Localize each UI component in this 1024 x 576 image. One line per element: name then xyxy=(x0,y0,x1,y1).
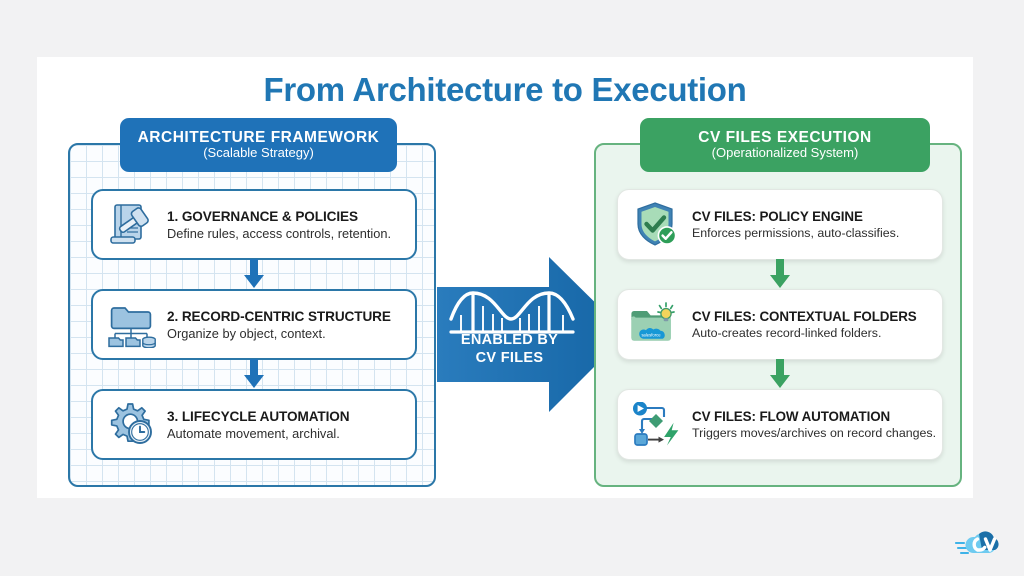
card-description: Automate movement, archival. xyxy=(167,426,349,441)
folder-hierarchy-icon xyxy=(103,299,161,351)
folder-lightbulb-salesforce-icon: salesforce xyxy=(628,299,686,351)
card-text: 2. RECORD-CENTRIC STRUCTURE Organize by … xyxy=(161,309,391,341)
card-description: Enforces permissions, auto-classifies. xyxy=(692,226,899,240)
card-text: CV FILES: POLICY ENGINE Enforces permiss… xyxy=(686,209,899,240)
connector-arrow-down xyxy=(768,359,792,389)
cv-files-execution-subtitle: (Operationalized System) xyxy=(712,146,859,161)
gear-clock-icon xyxy=(103,399,161,451)
cv-cloud-logo xyxy=(955,527,1007,565)
page-title: From Architecture to Execution xyxy=(37,71,973,109)
card-text: CV FILES: FLOW AUTOMATION Triggers moves… xyxy=(686,409,936,440)
card-flow-automation[interactable]: CV FILES: FLOW AUTOMATION Triggers moves… xyxy=(617,389,943,460)
gavel-law-book-icon xyxy=(103,199,161,251)
card-policy-engine[interactable]: CV FILES: POLICY ENGINE Enforces permiss… xyxy=(617,189,943,260)
card-governance-policies[interactable]: 1. GOVERNANCE & POLICIES Define rules, a… xyxy=(91,189,417,260)
architecture-framework-title: ARCHITECTURE FRAMEWORK xyxy=(138,129,380,146)
card-lifecycle-automation[interactable]: 3. LIFECYCLE AUTOMATION Automate movemen… xyxy=(91,389,417,460)
architecture-framework-panel: ARCHITECTURE FRAMEWORK (Scalable Strateg… xyxy=(68,143,436,487)
card-title: CV FILES: FLOW AUTOMATION xyxy=(692,409,936,424)
card-description: Organize by object, context. xyxy=(167,326,391,341)
card-description: Auto-creates record-linked folders. xyxy=(692,326,917,340)
card-description: Define rules, access controls, retention… xyxy=(167,226,391,241)
shield-check-icon xyxy=(628,199,686,251)
connector-arrow-down xyxy=(768,259,792,289)
slide-card: From Architecture to Execution ARCHITECT… xyxy=(37,57,973,498)
svg-text:salesforce: salesforce xyxy=(641,332,661,337)
card-title: CV FILES: CONTEXTUAL FOLDERS xyxy=(692,309,917,324)
architecture-framework-subtitle: (Scalable Strategy) xyxy=(203,146,314,161)
card-text: 3. LIFECYCLE AUTOMATION Automate movemen… xyxy=(161,409,349,441)
cv-files-execution-header: CV FILES EXECUTION (Operationalized Syst… xyxy=(640,118,930,172)
card-contextual-folders[interactable]: salesforce CV FILES: CONTEXTUAL FOLDERS … xyxy=(617,289,943,360)
card-text: 1. GOVERNANCE & POLICIES Define rules, a… xyxy=(161,209,391,241)
cv-files-execution-panel: CV FILES EXECUTION (Operationalized Syst… xyxy=(594,143,962,487)
card-title: CV FILES: POLICY ENGINE xyxy=(692,209,899,224)
cv-files-execution-title: CV FILES EXECUTION xyxy=(698,129,872,146)
slide-stage: From Architecture to Execution ARCHITECT… xyxy=(0,0,1024,576)
card-title: 2. RECORD-CENTRIC STRUCTURE xyxy=(167,309,391,324)
architecture-framework-header: ARCHITECTURE FRAMEWORK (Scalable Strateg… xyxy=(120,118,397,172)
connector-arrow-down xyxy=(242,359,266,389)
card-title: 3. LIFECYCLE AUTOMATION xyxy=(167,409,349,424)
card-title: 1. GOVERNANCE & POLICIES xyxy=(167,209,391,224)
card-record-centric-structure[interactable]: 2. RECORD-CENTRIC STRUCTURE Organize by … xyxy=(91,289,417,360)
flow-automation-icon xyxy=(628,399,686,451)
connector-arrow-down xyxy=(242,259,266,289)
card-text: CV FILES: CONTEXTUAL FOLDERS Auto-create… xyxy=(686,309,917,340)
card-description: Triggers moves/archives on record change… xyxy=(692,426,936,440)
